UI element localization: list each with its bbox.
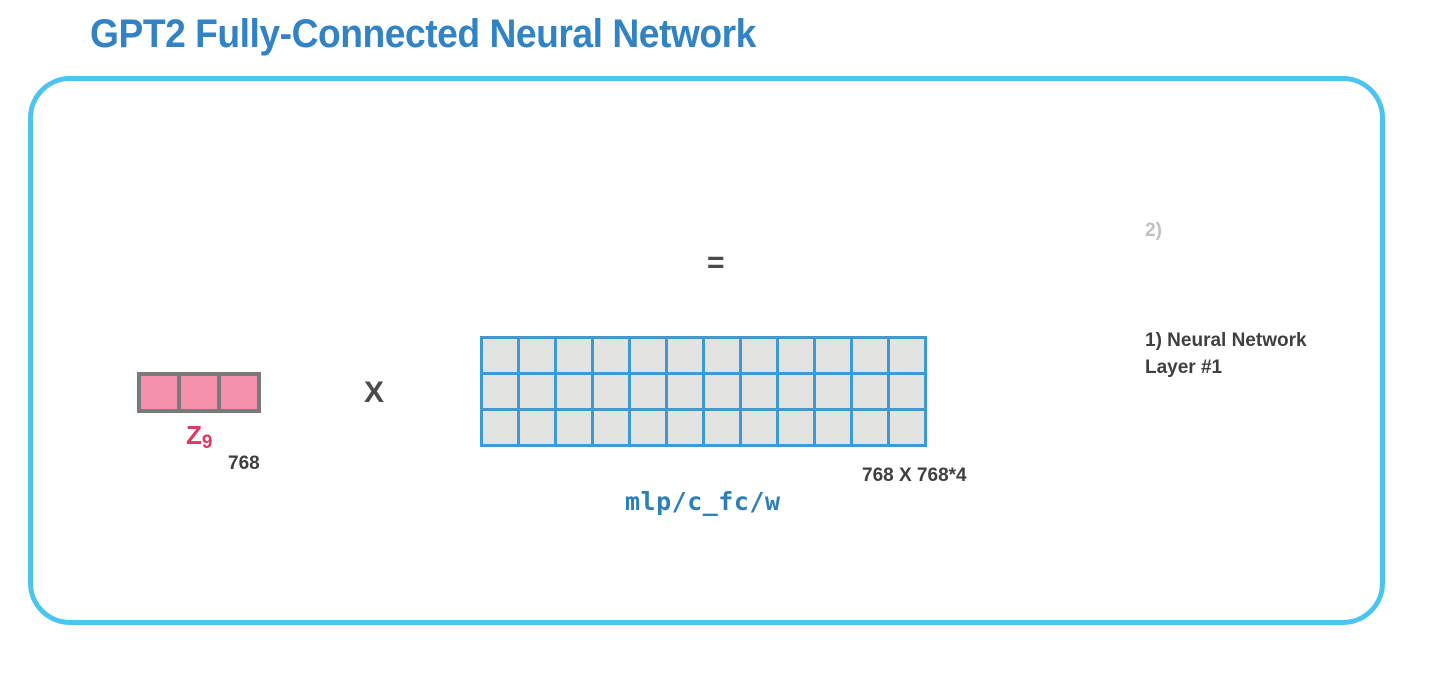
weight-matrix-cell [742,375,776,408]
weight-matrix-row [483,411,924,444]
weight-matrix-cell [483,339,517,372]
weight-matrix-cell [483,375,517,408]
weight-matrix-cell [779,339,813,372]
weight-matrix-cell [668,339,702,372]
weight-matrix-cell [779,411,813,444]
input-vector-cell [181,376,217,409]
weight-matrix-cell [631,339,665,372]
annotation-step-2: 2) [1145,220,1162,242]
input-vector-subscript: 9 [202,432,213,453]
weight-matrix-cell [520,375,554,408]
weight-matrix-cell [557,375,591,408]
weight-matrix-cell [705,375,739,408]
weight-matrix-cell [890,339,924,372]
weight-matrix-row [483,339,924,375]
weight-matrix-cell [520,339,554,372]
weight-matrix-cell [594,339,628,372]
weight-matrix-name-label: mlp/c_fc/w [625,487,781,516]
weight-matrix-cell [631,375,665,408]
weight-matrix-cell [816,375,850,408]
weight-matrix-cell [890,375,924,408]
input-vector-z9 [137,372,261,413]
weight-matrix-cell [520,411,554,444]
weight-matrix-cell [816,411,850,444]
weight-matrix-cell [668,411,702,444]
annotation-step-1: 1) Neural Network Layer #1 [1145,327,1360,381]
weight-matrix-cell [890,411,924,444]
weight-matrix-dimensions-label: 768 X 768*4 [862,465,967,487]
weight-matrix-cell [779,375,813,408]
weight-matrix-cell [853,411,887,444]
input-vector-dimension-label: 768 [228,453,260,475]
input-vector-cell [221,376,257,409]
input-vector-label: Z9 [186,420,212,454]
weight-matrix-cell [668,375,702,408]
input-vector-symbol: Z [186,420,202,450]
weight-matrix-cell [816,339,850,372]
weight-matrix-cell [557,339,591,372]
multiply-operator: X [364,376,384,410]
input-vector-cell [141,376,177,409]
weight-matrix-grid [480,336,927,447]
equals-operator: = [707,246,725,280]
weight-matrix-cell [742,339,776,372]
weight-matrix-cell [853,375,887,408]
weight-matrix-row [483,375,924,411]
weight-matrix-cell [483,411,517,444]
weight-matrix-cell [742,411,776,444]
weight-matrix-cell [853,339,887,372]
weight-matrix-cell [594,375,628,408]
weight-matrix-cell [594,411,628,444]
weight-matrix-cell [705,411,739,444]
weight-matrix-cell [705,339,739,372]
weight-matrix-cell [631,411,665,444]
weight-matrix-cell [557,411,591,444]
page-title: GPT2 Fully-Connected Neural Network [90,12,756,57]
